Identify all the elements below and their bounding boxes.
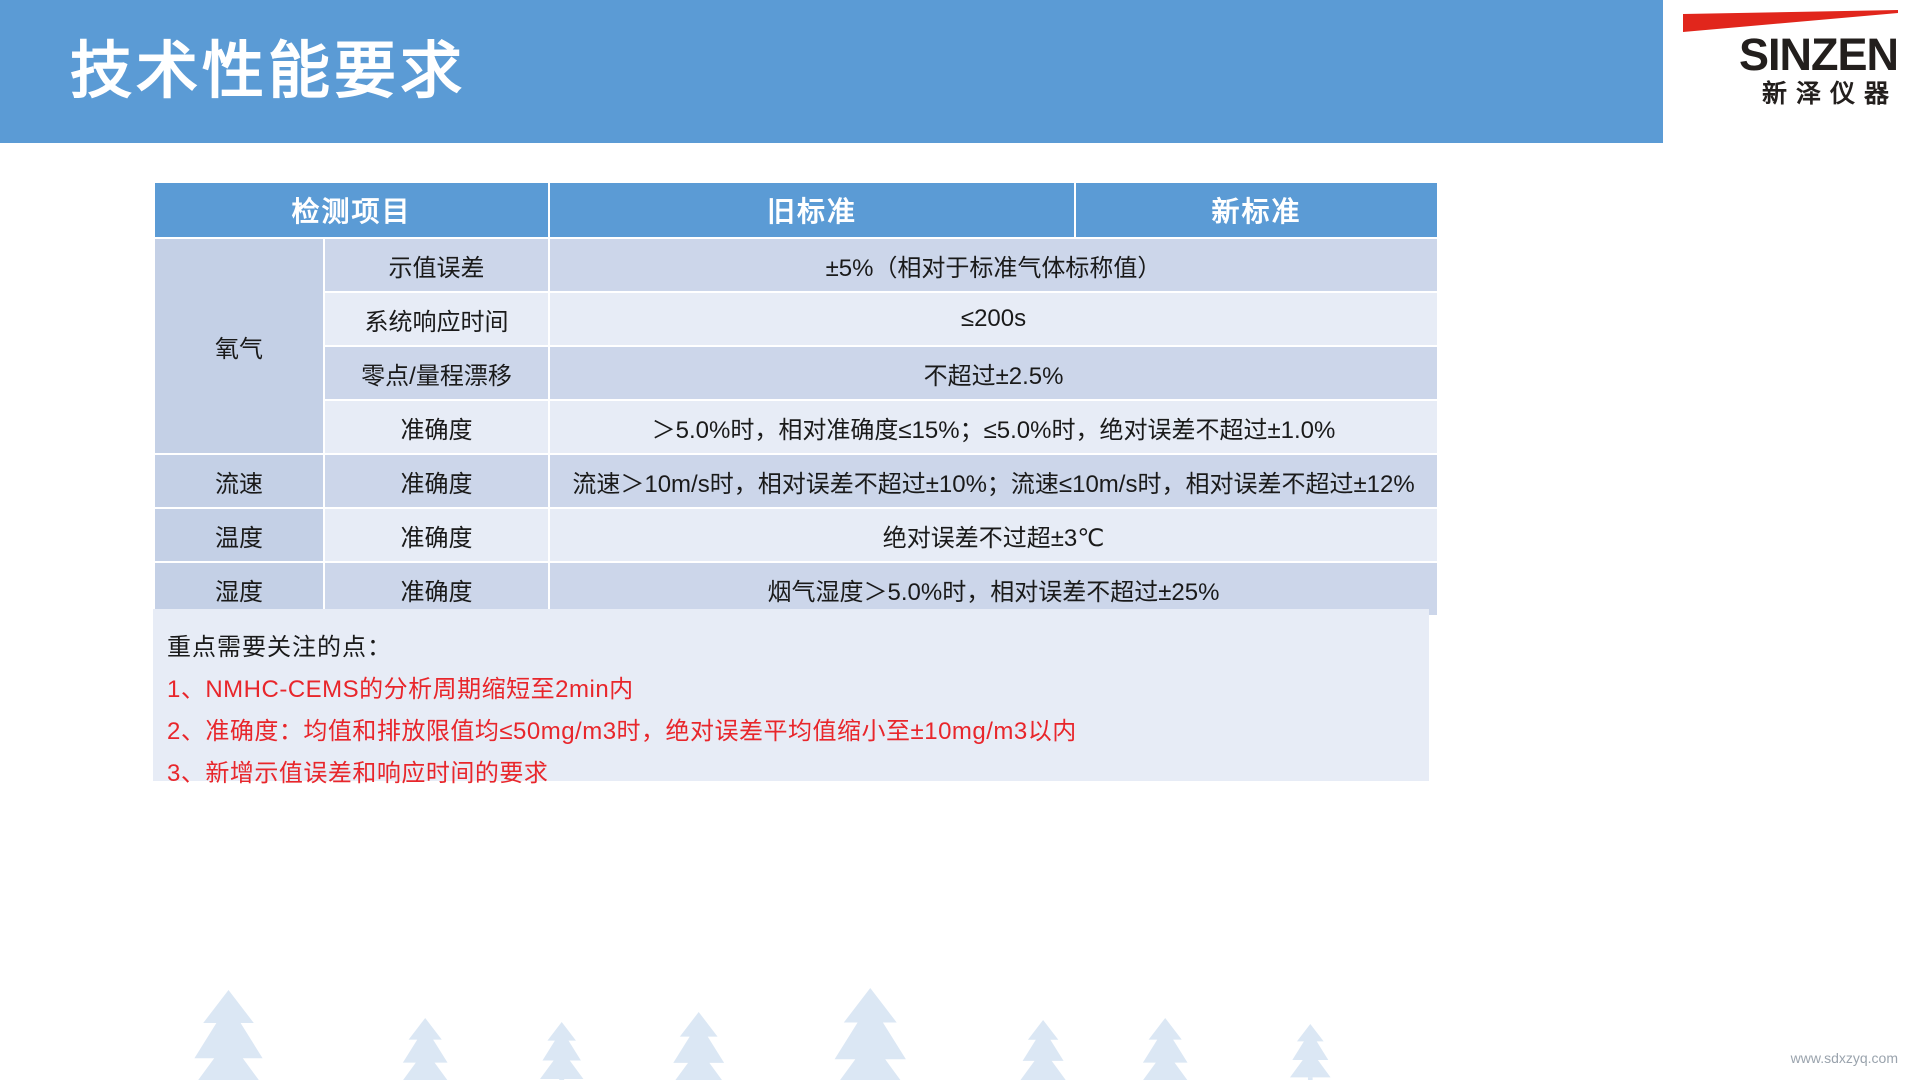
table-row: 流速 准确度 流速＞10m/s时，相对误差不超过±10%；流速≤10m/s时，相… <box>155 455 1437 507</box>
cell-category: 流速 <box>155 455 323 507</box>
logo-english-text: SINZEN <box>1739 33 1898 77</box>
table-row: 湿度 准确度 烟气湿度＞5.0%时，相对误差不超过±25% <box>155 563 1437 615</box>
slide-root: 技术性能要求 SINZEN 新泽仪器 检测项目 旧标准 新标准 氧气 示值误差 <box>0 0 1920 1080</box>
cell-value: 绝对误差不过超±3℃ <box>550 509 1437 561</box>
cell-category: 氧气 <box>155 239 323 453</box>
cell-category: 温度 <box>155 509 323 561</box>
cell-item: 系统响应时间 <box>325 293 548 345</box>
cell-value: 不超过±2.5% <box>550 347 1437 399</box>
cell-category: 湿度 <box>155 563 323 615</box>
cell-value: ±5%（相对于标准气体标称值） <box>550 239 1437 291</box>
col-header-new-standard: 新标准 <box>1076 183 1437 237</box>
table-head: 检测项目 旧标准 新标准 <box>155 183 1437 237</box>
cell-item: 零点/量程漂移 <box>325 347 548 399</box>
tree-decoration-icon <box>0 960 1920 1080</box>
note-item-1: 1、NMHC-CEMS的分析周期缩短至2min内 <box>167 669 1429 711</box>
table-row: 系统响应时间 ≤200s <box>155 293 1437 345</box>
footer-url: www.sdxzyq.com <box>1791 1050 1898 1066</box>
cell-item: 示值误差 <box>325 239 548 291</box>
cell-item: 准确度 <box>325 455 548 507</box>
spec-table: 检测项目 旧标准 新标准 氧气 示值误差 ±5%（相对于标准气体标称值） 系统响… <box>153 181 1439 617</box>
page-title: 技术性能要求 <box>70 24 466 120</box>
col-header-item: 检测项目 <box>155 183 548 237</box>
table-header-row: 检测项目 旧标准 新标准 <box>155 183 1437 237</box>
cell-item: 准确度 <box>325 563 548 615</box>
table-row: 零点/量程漂移 不超过±2.5% <box>155 347 1437 399</box>
table-row: 准确度 ＞5.0%时，相对准确度≤15%；≤5.0%时，绝对误差不超过±1.0% <box>155 401 1437 453</box>
company-logo: SINZEN 新泽仪器 <box>1648 10 1898 115</box>
cell-item: 准确度 <box>325 509 548 561</box>
cell-value: ＞5.0%时，相对准确度≤15%；≤5.0%时，绝对误差不超过±1.0% <box>550 401 1437 453</box>
cell-value: 烟气湿度＞5.0%时，相对误差不超过±25% <box>550 563 1437 615</box>
col-header-old-standard: 旧标准 <box>550 183 1074 237</box>
note-item-2: 2、准确度：均值和排放限值均≤50mg/m3时，绝对误差平均值缩小至±10mg/… <box>167 711 1429 753</box>
cell-value: ≤200s <box>550 293 1437 345</box>
cell-item: 准确度 <box>325 401 548 453</box>
table-body: 氧气 示值误差 ±5%（相对于标准气体标称值） 系统响应时间 ≤200s 零点/… <box>155 239 1437 615</box>
notes-block: 重点需要关注的点： 1、NMHC-CEMS的分析周期缩短至2min内 2、准确度… <box>153 609 1429 781</box>
note-item-3: 3、新增示值误差和响应时间的要求 <box>167 753 1429 795</box>
table-row: 氧气 示值误差 ±5%（相对于标准气体标称值） <box>155 239 1437 291</box>
table-row: 温度 准确度 绝对误差不过超±3℃ <box>155 509 1437 561</box>
notes-title: 重点需要关注的点： <box>167 627 1429 669</box>
logo-chinese-text: 新泽仪器 <box>1753 79 1898 109</box>
cell-value: 流速＞10m/s时，相对误差不超过±10%；流速≤10m/s时，相对误差不超过±… <box>550 455 1437 507</box>
